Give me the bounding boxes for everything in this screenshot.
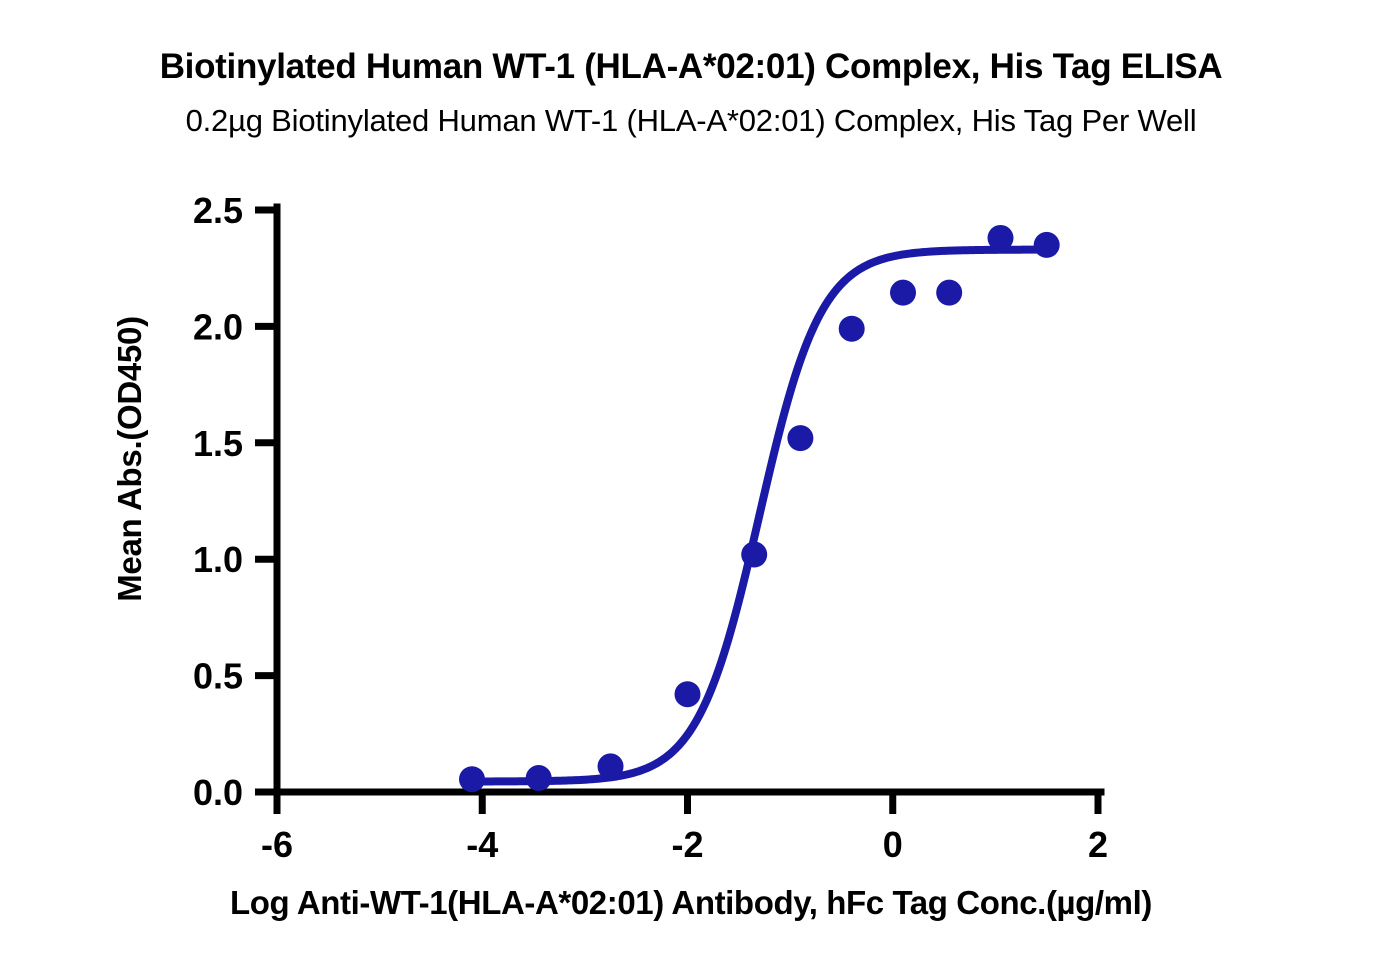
data-point [459,766,485,792]
x-tick-label: -4 [466,824,498,865]
x-tick-label: 0 [883,824,903,865]
data-point [1034,232,1060,258]
plot-area: 0.00.51.01.52.02.5 -6-4-202 [0,0,1382,976]
data-point [988,225,1014,251]
data-point [787,425,813,451]
y-tick-label: 1.0 [193,539,243,580]
data-point [936,280,962,306]
y-tick-label: 1.5 [193,423,243,464]
y-tick-label: 2.5 [193,190,243,231]
data-point [890,280,916,306]
elisa-chart-figure: Biotinylated Human WT-1 (HLA-A*02:01) Co… [0,0,1382,976]
data-point [526,765,552,791]
data-point [839,316,865,342]
y-axis-ticks: 0.00.51.01.52.02.5 [193,190,277,813]
y-tick-label: 0.5 [193,656,243,697]
sigmoid-fit-curve [472,250,1047,782]
x-tick-label: -2 [671,824,703,865]
y-tick-label: 0.0 [193,772,243,813]
x-tick-label: -6 [261,824,293,865]
data-point [675,681,701,707]
x-tick-label: 2 [1088,824,1108,865]
y-tick-label: 2.0 [193,306,243,347]
x-axis-ticks: -6-4-202 [261,792,1108,865]
data-point [741,542,767,568]
data-point [598,753,624,779]
